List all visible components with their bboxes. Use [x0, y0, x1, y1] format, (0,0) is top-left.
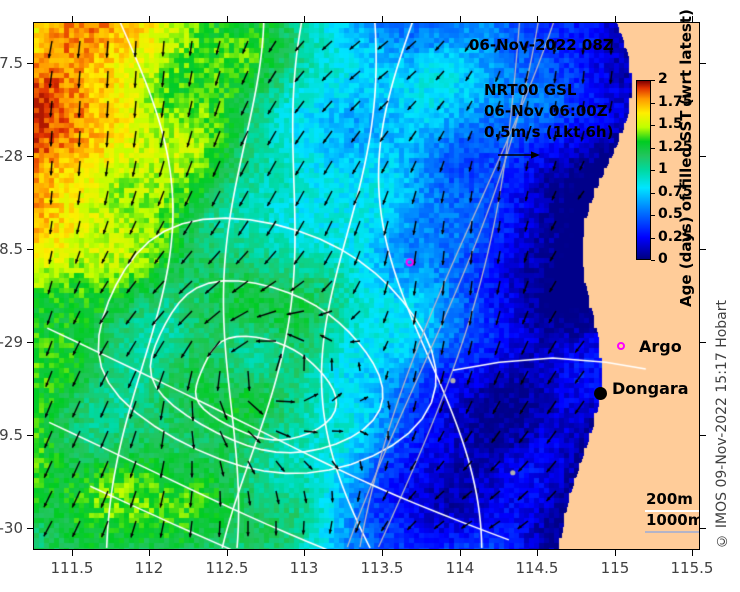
argo-legend-label: Argo [639, 337, 682, 356]
y-axis-tick [27, 435, 33, 436]
argo-marker-icon [617, 342, 625, 350]
y-axis-label: -29 [0, 333, 23, 351]
y-axis-tick [27, 249, 33, 250]
x-axis-tick [304, 550, 305, 556]
colorbar-tick-label: 0 [658, 251, 668, 267]
colorbar-tick-label: 1 [658, 161, 668, 177]
y-axis-tick [27, 528, 33, 529]
copyright-label: © IMOS 09-Nov-2022 15:17 Hobart [714, 300, 730, 549]
x-axis-tick-top [227, 16, 228, 22]
y-axis-tick-right [700, 342, 706, 343]
x-axis-tick [382, 550, 383, 556]
x-axis-label: 115.5 [657, 559, 727, 577]
x-axis-tick-top [692, 16, 693, 22]
y-axis-tick [27, 342, 33, 343]
x-axis-tick-top [615, 16, 616, 22]
x-axis-tick [692, 550, 693, 556]
x-axis-tick [460, 550, 461, 556]
y-axis-label: -28.5 [0, 240, 23, 258]
dongara-marker-icon [594, 387, 607, 400]
colorbar-tick [651, 80, 655, 81]
colorbar-tick [651, 193, 655, 194]
x-axis-label: 112.5 [192, 559, 262, 577]
colorbar-tick [651, 238, 655, 239]
x-axis-label: 114.5 [502, 559, 572, 577]
y-axis-tick [27, 63, 33, 64]
colorbar-gradient [637, 81, 650, 259]
x-axis-tick [149, 550, 150, 556]
y-axis-label: -30 [0, 519, 23, 537]
colorbar-tick [651, 103, 655, 104]
x-axis-label: 113 [269, 559, 339, 577]
y-axis-tick-right [700, 63, 706, 64]
y-axis-label: -29.5 [0, 426, 23, 444]
y-axis-tick-right [700, 249, 706, 250]
x-axis-tick [227, 550, 228, 556]
map-plot-area[interactable]: 06-Nov-2022 08Z NRT00 GSL 06-Nov 06:00Z … [33, 22, 700, 550]
model-name-label: NRT00 GSL [484, 80, 613, 101]
x-axis-tick-top [537, 16, 538, 22]
x-axis-tick-top [304, 16, 305, 22]
x-axis-tick-top [382, 16, 383, 22]
colorbar-tick [651, 260, 655, 261]
colorbar-tick [651, 148, 655, 149]
x-axis-label: 113.5 [347, 559, 417, 577]
colorbar-title: Age (days) of filled SST (wrt latest) [676, 18, 696, 298]
model-speed-label: 0.5m/s (1kt 6h) [484, 122, 613, 143]
date-stamp-label: 06-Nov-2022 08Z [469, 36, 614, 54]
colorbar-tick [651, 170, 655, 171]
x-axis-label: 111.5 [37, 559, 107, 577]
colorbar [636, 80, 651, 260]
depth-1000m-line-swatch [645, 531, 700, 533]
x-axis-tick [72, 550, 73, 556]
colorbar-tick [651, 125, 655, 126]
colorbar-tick-label: 2 [658, 71, 668, 87]
y-axis-label: -27.5 [0, 54, 23, 72]
figure-root: 06-Nov-2022 08Z NRT00 GSL 06-Nov 06:00Z … [0, 0, 740, 592]
y-axis-tick-right [700, 156, 706, 157]
depth-1000m-label: 1000m [646, 510, 700, 531]
x-axis-tick [615, 550, 616, 556]
dongara-city-label: Dongara [612, 379, 689, 398]
x-axis-label: 115 [580, 559, 650, 577]
colorbar-tick [651, 215, 655, 216]
x-axis-tick-top [460, 16, 461, 22]
x-axis-label: 112 [114, 559, 184, 577]
model-time-label: 06-Nov 06:00Z [484, 101, 613, 122]
y-axis-tick [27, 156, 33, 157]
y-axis-tick-right [700, 528, 706, 529]
x-axis-tick-top [149, 16, 150, 22]
model-info-block: NRT00 GSL 06-Nov 06:00Z 0.5m/s (1kt 6h) [484, 80, 613, 143]
arrow-right-icon [496, 148, 542, 162]
x-axis-tick-top [72, 16, 73, 22]
x-axis-label: 114 [425, 559, 495, 577]
depth-200m-label: 200m [646, 489, 700, 510]
bathymetry-depth-key: 200m 1000m [646, 489, 700, 531]
y-axis-tick-right [700, 435, 706, 436]
y-axis-label: -28 [0, 147, 23, 165]
x-axis-tick [537, 550, 538, 556]
